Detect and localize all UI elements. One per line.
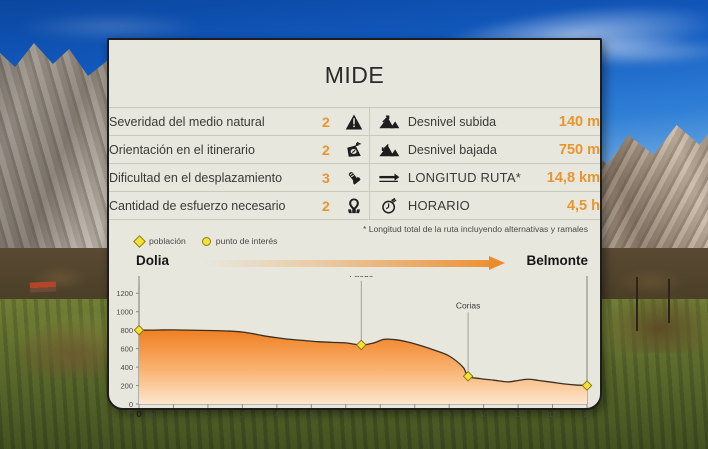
circle-marker-icon: [202, 237, 211, 246]
chart-area-layer: [139, 330, 587, 404]
svg-text:0: 0: [129, 400, 133, 409]
elevation-profile-chart: FaedoCorias 020040060080010001200m012345…: [109, 276, 604, 426]
warning-triangle-icon: [339, 108, 370, 136]
legend-item-poblacion: población: [135, 236, 186, 246]
svg-text:0: 0: [136, 409, 141, 420]
metric-label: HORARIO: [408, 192, 539, 220]
table-row: Severidad del medio natural 2: [109, 108, 600, 136]
svg-text:11: 11: [514, 410, 522, 419]
svg-text:4: 4: [275, 410, 279, 419]
metric-value: 4,5 h: [539, 192, 601, 220]
legend-item-punto-de-interes: punto de interés: [202, 236, 278, 246]
table-row: Cantidad de esfuerzo necesario 2: [109, 192, 600, 220]
svg-text:600: 600: [120, 344, 133, 353]
criterion-label: Dificultad en el desplazamiento: [109, 164, 313, 192]
svg-text:10: 10: [479, 410, 487, 419]
arrow-head: [489, 256, 505, 270]
elevation-profile-svg: FaedoCorias 020040060080010001200m012345…: [109, 276, 604, 426]
metric-value: 14,8 km: [539, 164, 601, 192]
page-title: MIDE: [109, 40, 600, 107]
svg-text:Faedo: Faedo: [349, 276, 373, 279]
svg-text:6: 6: [344, 410, 348, 419]
svg-text:800: 800: [120, 326, 133, 335]
metric-value: 750 m: [539, 136, 601, 164]
mountain-up-icon: [369, 108, 408, 136]
legend-label: población: [149, 236, 186, 246]
table-row: Orientación en el itinerario 2: [109, 136, 600, 164]
route-start-label: Dolia: [136, 253, 169, 268]
hut-roof: [30, 281, 56, 292]
criterion-value: 3: [313, 164, 339, 192]
svg-text:3: 3: [240, 410, 244, 419]
criterion-label: Cantidad de esfuerzo necesario: [109, 192, 313, 220]
svg-text:400: 400: [120, 363, 133, 372]
svg-text:km: km: [146, 413, 156, 420]
criterion-label: Severidad del medio natural: [109, 108, 313, 136]
compass-map-icon: [339, 136, 370, 164]
route-end-label: Belmonte: [526, 253, 588, 268]
svg-text:12: 12: [548, 410, 556, 419]
svg-text:5: 5: [309, 410, 313, 419]
svg-text:Corias: Corias: [456, 300, 481, 310]
legend-label: punto de interés: [216, 236, 278, 246]
distance-arrow-icon: [369, 164, 408, 192]
diamond-marker-icon: [133, 235, 146, 248]
chart-legend: población punto de interés: [109, 234, 600, 246]
footnote-text: * Longitud total de la ruta incluyendo a…: [109, 220, 600, 234]
cloud-icon: [20, 14, 200, 40]
criterion-label: Orientación en el itinerario: [109, 136, 313, 164]
table-row: Dificultad en el desplazamiento 3: [109, 164, 600, 192]
svg-text:1200: 1200: [116, 289, 133, 298]
metric-label: LONGITUD RUTA*: [408, 164, 539, 192]
effort-heart-icon: [339, 192, 370, 220]
svg-text:m: m: [127, 409, 133, 416]
metric-label: Desnivel subida: [408, 108, 539, 136]
stopwatch-icon: [369, 192, 408, 220]
direction-arrow-icon: [204, 256, 505, 270]
svg-text:1000: 1000: [116, 307, 133, 316]
criterion-value: 2: [313, 136, 339, 164]
criterion-value: 2: [313, 192, 339, 220]
svg-text:7: 7: [378, 410, 382, 419]
arrow-shaft: [204, 260, 491, 267]
route-direction-bar: Dolia Belmonte: [109, 250, 600, 276]
bare-tree: [668, 279, 670, 323]
svg-text:8: 8: [413, 410, 417, 419]
svg-text:200: 200: [120, 381, 133, 390]
metric-label: Desnivel bajada: [408, 136, 539, 164]
mide-criteria-table: Severidad del medio natural 2: [109, 107, 600, 220]
mountain-down-icon: [369, 136, 408, 164]
metric-value: 140 m: [539, 108, 601, 136]
bare-tree: [636, 277, 638, 331]
criterion-value: 2: [313, 108, 339, 136]
svg-text:9: 9: [447, 410, 451, 419]
mide-info-panel: MIDE Severidad del medio natural 2: [107, 38, 602, 410]
svg-text:1: 1: [171, 410, 175, 419]
svg-text:2: 2: [206, 410, 210, 419]
hiking-boot-icon: [339, 164, 370, 192]
svg-text:13: 13: [583, 410, 591, 419]
bush: [600, 291, 708, 353]
